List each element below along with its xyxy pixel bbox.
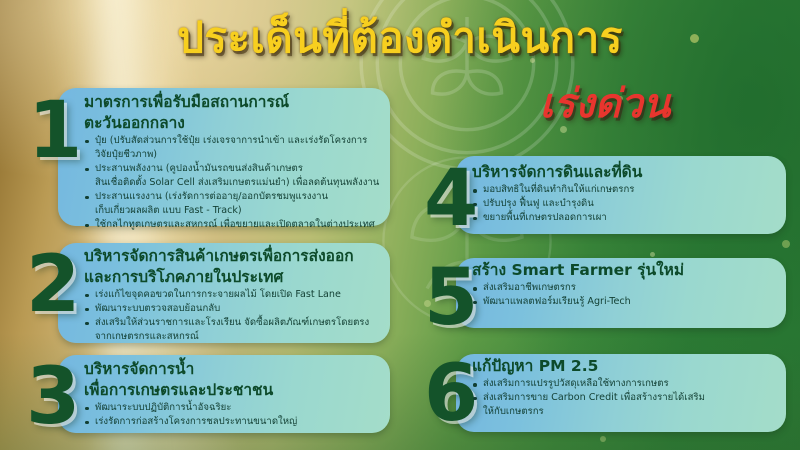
- subtitle-container: เร่งด่วน: [410, 84, 800, 124]
- bokeh-particle: [782, 240, 790, 248]
- main-title-container: ประเด็นที่ต้องดำเนินการ: [0, 16, 800, 60]
- card-number-4: 4: [424, 160, 478, 238]
- bokeh-particle: [560, 126, 567, 133]
- card-6-bullet-list: ส่งเสริมการแปรรูปวัสดุเหลือใช้ทางการเกษต…: [472, 378, 772, 418]
- bullet-item: ส่งเสริมให้ส่วนราชการและโรงเรียน จัดซื้อ…: [84, 317, 384, 329]
- page-title: ประเด็นที่ต้องดำเนินการ: [177, 16, 623, 60]
- bullet-item-continuation: เก็บเกี่ยวผลผลิต แบบ Fast - Track): [84, 205, 384, 217]
- bullet-item: ประสานพลังงาน (คูปองน้ำมันรถขนส่งสินค้าเ…: [84, 163, 384, 175]
- bullet-item: พัฒนาแพลตฟอร์มเรียนรู้ Agri-Tech: [472, 296, 772, 308]
- bullet-item: ส่งเสริมการแปรรูปวัสดุเหลือใช้ทางการเกษต…: [472, 378, 772, 390]
- bullet-item: ส่งเสริมการขาย Carbon Credit เพื่อสร้างร…: [472, 392, 772, 404]
- bullet-item: เร่งรัดการก่อสร้างโครงการชลประทานขนาดใหญ…: [84, 416, 384, 428]
- bullet-item: พัฒนาระบบปฏิบัติการน้ำอัจฉริยะ: [84, 402, 384, 414]
- card-3-content: บริหารจัดการน้ำ เพื่อการเกษตรและประชาชน …: [84, 360, 384, 430]
- card-6-content: แก้ปัญหา PM 2.5 ส่งเสริมการแปรรูปวัสดุเห…: [472, 357, 772, 420]
- bullet-item-continuation: สินเชื่อติดตั้ง Solar Cell ส่งเสริมเกษตร…: [84, 177, 384, 189]
- bullet-item: ปุ๋ย (ปรับสัดส่วนการใช้ปุ๋ย เร่งเจรจาการ…: [84, 135, 384, 147]
- bokeh-particle: [600, 436, 606, 442]
- card-3-title-line1: บริหารจัดการน้ำ: [84, 360, 384, 379]
- bullet-item-continuation: ให้กับเกษตรกร: [472, 406, 772, 418]
- card-number-1: 1: [28, 92, 82, 170]
- card-5-bullet-list: ส่งเสริมอาชีพเกษตรกรพัฒนาแพลตฟอร์มเรียนร…: [472, 282, 772, 308]
- bullet-item: ขยายพื้นที่เกษตรปลอดการเผา: [472, 212, 772, 224]
- bullet-item: มอบสิทธิในที่ดินทำกินให้แก่เกษตรกร: [472, 184, 772, 196]
- bullet-item: ปรับปรุง ฟื้นฟู และบำรุงดิน: [472, 198, 772, 210]
- card-1-title-line1: มาตรการเพื่อรับมือสถานการณ์: [84, 93, 384, 112]
- card-number-3: 3: [26, 358, 80, 436]
- bullet-item: ส่งเสริมอาชีพเกษตรกร: [472, 282, 772, 294]
- card-2-title-line2: และการบริโภคภายในประเทศ: [84, 268, 384, 287]
- bullet-item-continuation: จากเกษตรกรและสหกรณ์: [84, 331, 384, 343]
- card-2-bullet-list: เร่งแก้ไขจุดคอขวดในการกระจายผลไม้ โดยเปิ…: [84, 289, 384, 343]
- card-2-title-line1: บริหารจัดการสินค้าเกษตรเพื่อการส่งออก: [84, 247, 384, 266]
- card-1-title-line2: ตะวันออกกลาง: [84, 114, 384, 133]
- bullet-item: เร่งแก้ไขจุดคอขวดในการกระจายผลไม้ โดยเปิ…: [84, 289, 384, 301]
- bullet-item: ประสานแรงงาน (เร่งรัดการต่ออายุ/ออกบัตรช…: [84, 191, 384, 203]
- card-number-2: 2: [26, 246, 80, 324]
- card-1-bullet-list: ปุ๋ย (ปรับสัดส่วนการใช้ปุ๋ย เร่งเจรจาการ…: [84, 135, 384, 231]
- bullet-item-continuation: วิจัยปุ๋ยชีวภาพ): [84, 149, 384, 161]
- card-6-title-line1: แก้ปัญหา PM 2.5: [472, 357, 772, 376]
- card-1-content: มาตรการเพื่อรับมือสถานการณ์ ตะวันออกกลาง…: [84, 93, 384, 233]
- card-3-bullet-list: พัฒนาระบบปฏิบัติการน้ำอัจฉริยะเร่งรัดการ…: [84, 402, 384, 428]
- card-number-5: 5: [424, 259, 478, 337]
- card-2-content: บริหารจัดการสินค้าเกษตรเพื่อการส่งออก แล…: [84, 247, 384, 345]
- card-4-bullet-list: มอบสิทธิในที่ดินทำกินให้แก่เกษตรกรปรับปร…: [472, 184, 772, 224]
- card-5-title-line1: สร้าง Smart Farmer รุ่นใหม่: [472, 261, 772, 280]
- card-5-content: สร้าง Smart Farmer รุ่นใหม่ ส่งเสริมอาชี…: [472, 261, 772, 310]
- page-subtitle-urgent: เร่งด่วน: [540, 84, 670, 124]
- card-number-6: 6: [424, 355, 478, 433]
- bullet-item: ใช้กลไกทูตเกษตรและสหกรณ์ เพื่อขยายและเปิ…: [84, 219, 384, 231]
- bokeh-particle: [650, 252, 655, 257]
- card-3-title-line2: เพื่อการเกษตรและประชาชน: [84, 381, 384, 400]
- card-4-title-line1: บริหารจัดการดินและที่ดิน: [472, 163, 772, 182]
- bullet-item: พัฒนาระบบตรวจสอบย้อนกลับ: [84, 303, 384, 315]
- card-4-content: บริหารจัดการดินและที่ดิน มอบสิทธิในที่ดิ…: [472, 163, 772, 226]
